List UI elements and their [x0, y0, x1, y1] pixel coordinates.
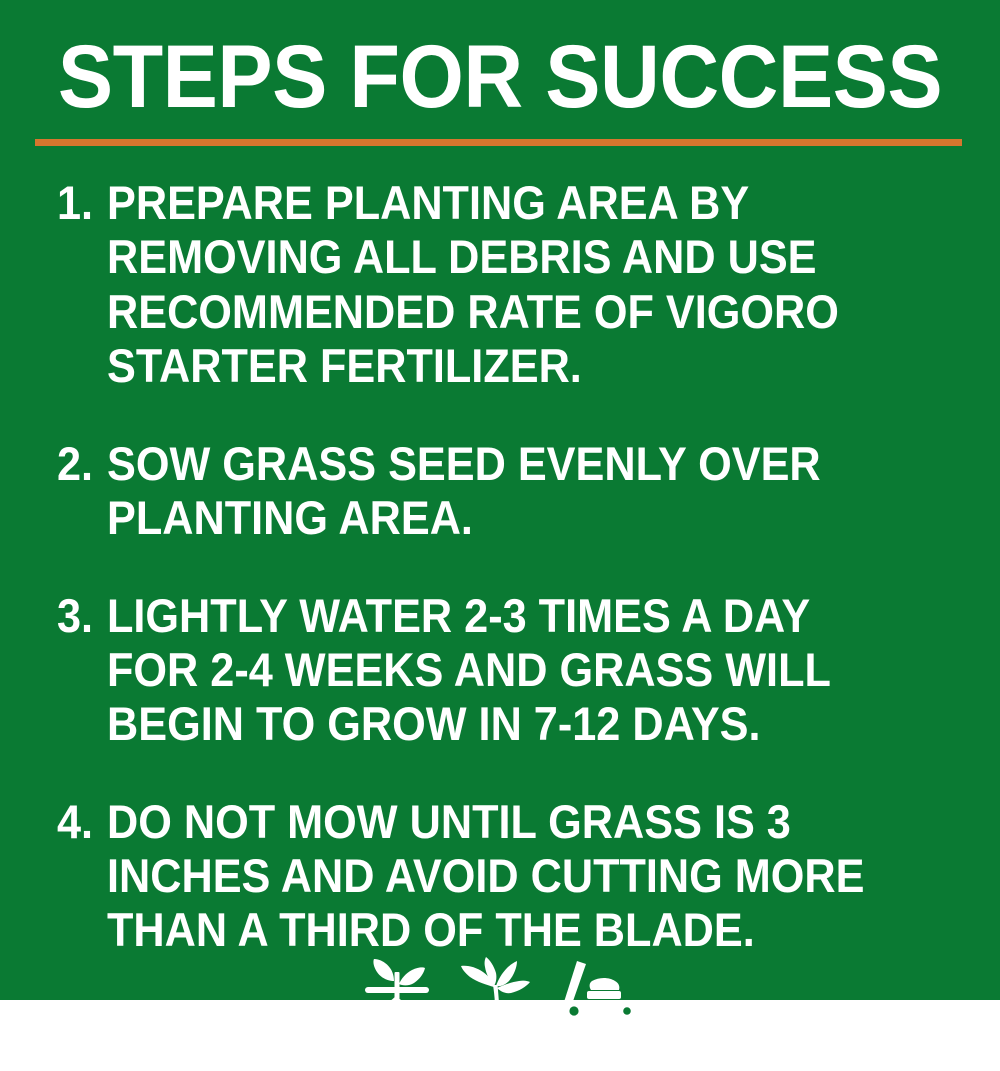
seedling-with-roots-icon: [361, 957, 433, 1023]
title-block: STEPS FOR SUCCESS: [0, 0, 1000, 146]
step-text: LIGHTLY WATER 2-3 TIMES A DAY FOR 2-4 WE…: [107, 589, 901, 751]
icon-row: [0, 957, 1000, 1071]
page-title: STEPS FOR SUCCESS: [35, 34, 965, 119]
step-number: 4.: [57, 795, 103, 849]
step-number: 1.: [57, 176, 103, 230]
list-item: 2. SOW GRASS SEED EVENLY OVER PLANTING A…: [57, 437, 970, 545]
list-item: 4. DO NOT MOW UNTIL GRASS IS 3 INCHES AN…: [57, 795, 970, 957]
step-text: PREPARE PLANTING AREA BY REMOVING ALL DE…: [107, 176, 901, 392]
title-divider: [35, 139, 962, 146]
steps-for-success-poster: STEPS FOR SUCCESS 1. PREPARE PLANTING AR…: [0, 0, 1000, 1000]
list-item: 1. PREPARE PLANTING AREA BY REMOVING ALL…: [57, 176, 970, 392]
grass-sprout-with-roots-icon: [459, 957, 531, 1023]
step-text: DO NOT MOW UNTIL GRASS IS 3 INCHES AND A…: [107, 795, 901, 957]
step-number: 3.: [57, 589, 103, 643]
step-number: 2.: [57, 437, 103, 491]
list-item: 3. LIGHTLY WATER 2-3 TIMES A DAY FOR 2-4…: [57, 589, 970, 751]
steps-list: 1. PREPARE PLANTING AREA BY REMOVING ALL…: [0, 146, 1000, 957]
lawn-mower-icon: [557, 957, 639, 1023]
step-text: SOW GRASS SEED EVENLY OVER PLANTING AREA…: [107, 437, 901, 545]
